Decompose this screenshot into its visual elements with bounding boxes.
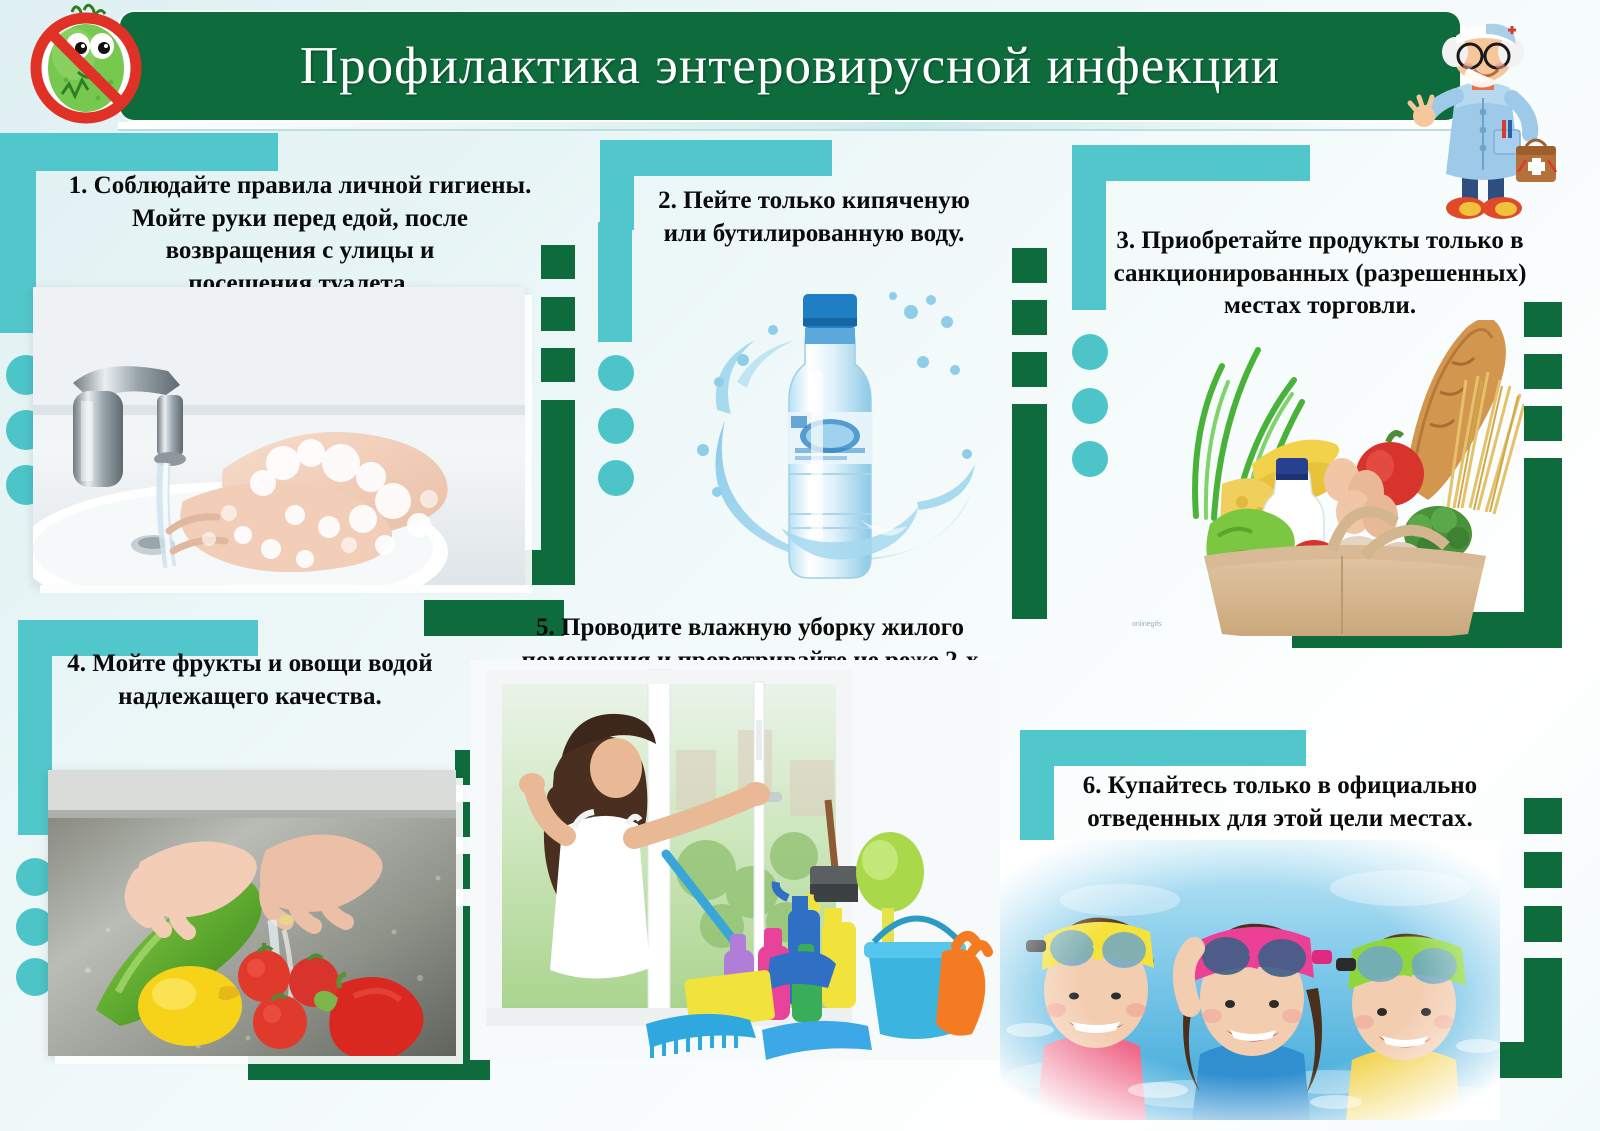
deco-green-square	[541, 297, 575, 331]
deco-green-square	[541, 348, 575, 382]
deco-green-square	[1524, 354, 1562, 389]
poster-root: Профилактика энтеровирусной инфекции	[0, 0, 1600, 1131]
grocery-bag-photo: onlinegifs	[1118, 320, 1524, 636]
tip-2-caption: 2. Пейте только кипяченую или бутилирова…	[614, 185, 1014, 250]
deco-dot	[1072, 334, 1108, 370]
deco-dot	[1072, 388, 1108, 424]
tip-3-line-1: 3. Приобретайте продукты только в	[1085, 225, 1555, 258]
header-banner: Профилактика энтеровирусной инфекции	[120, 12, 1460, 120]
tip-1-line-1: 1. Соблюдайте правила личной гигиены.	[40, 170, 560, 203]
washing-vegetables-photo	[48, 770, 456, 1056]
tip-6-line-2: отведенных для этой цели местах.	[1055, 803, 1505, 836]
tip-6-line-1: 6. Купайтесь только в официально	[1055, 770, 1505, 803]
deco-green-bar-vertical	[1012, 404, 1047, 619]
doctor-character-icon	[1398, 12, 1566, 228]
header-underline	[118, 122, 1462, 131]
bottled-water-photo	[655, 270, 1005, 600]
deco-green-square	[1524, 798, 1562, 834]
tip-4-caption: 4. Мойте фрукты и овощи водой надлежащег…	[40, 648, 460, 713]
deco-green-square	[1012, 352, 1047, 387]
deco-green-square	[1012, 300, 1047, 335]
deco-teal-bar-top-left	[0, 133, 278, 171]
svg-text:onlinegifs: onlinegifs	[1132, 621, 1162, 628]
deco-teal-bar-tip3-top	[1072, 145, 1310, 181]
no-virus-icon	[26, 2, 146, 130]
deco-green-square	[1524, 906, 1562, 942]
handwashing-photo	[33, 287, 525, 585]
deco-green-square	[1524, 406, 1562, 441]
deco-dot	[1072, 441, 1108, 477]
deco-teal-bar-tip6-top	[1020, 730, 1306, 766]
deco-teal-bar-tip2-top	[600, 140, 832, 176]
ventilation-cleaning-photo	[470, 660, 1000, 1060]
tip-4-line-1: 4. Мойте фрукты и овощи водой	[40, 648, 460, 681]
deco-green-square	[1012, 248, 1047, 283]
tip-1-line-3: возвращения с улицы и	[40, 235, 560, 268]
deco-dot	[598, 408, 634, 444]
deco-teal-bar-left-vertical	[0, 133, 36, 333]
tip-1-line-2: Мойте руки перед едой, после	[40, 203, 560, 236]
children-swimming-photo	[1000, 840, 1500, 1120]
tip-3-caption: 3. Приобретайте продукты только в санкци…	[1085, 225, 1555, 323]
deco-dot	[598, 355, 634, 391]
tip-2-line-2: или бутилированную воду.	[614, 218, 1014, 251]
tip-1-caption: 1. Соблюдайте правила личной гигиены. Мо…	[40, 170, 560, 300]
tip-3-line-3: местах торговли.	[1085, 290, 1555, 323]
tip-5-line-1: 5. Проводите влажную уборку жилого	[490, 612, 1010, 645]
tip-3-line-2: санкционированных (разрешенных)	[1085, 258, 1555, 291]
deco-green-square	[1524, 852, 1562, 888]
tip-2-line-1: 2. Пейте только кипяченую	[614, 185, 1014, 218]
deco-dot	[598, 460, 634, 496]
page-title: Профилактика энтеровирусной инфекции	[120, 36, 1460, 96]
tip-6-caption: 6. Купайтесь только в официально отведен…	[1055, 770, 1505, 835]
tip-4-line-2: надлежащего качества.	[40, 681, 460, 714]
